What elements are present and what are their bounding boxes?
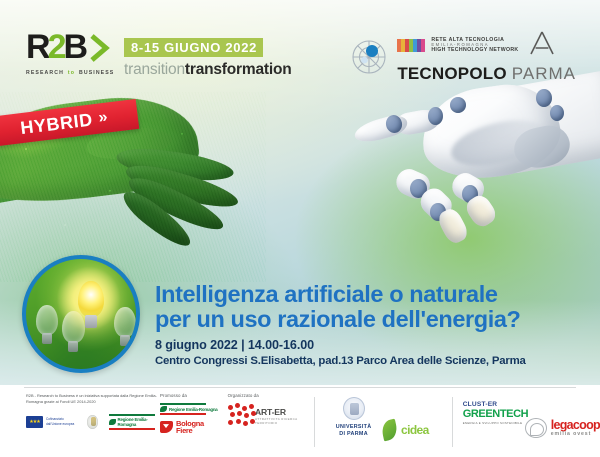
footer-promosso-block: Promosso da Regione Emilia-Romagna Bolog… xyxy=(160,393,228,453)
footer-funding-note-block: R2B - Research to Business è un iniziati… xyxy=(0,393,160,453)
event-venue: Centro Congressi S.Elisabetta, pad.13 Pa… xyxy=(155,355,585,367)
tecnopolo-logo: RETE ALTA TECNOLOGIA EMILIA-ROMAGNA HIGH… xyxy=(350,30,576,84)
regione-emilia-romagna-logo: Regione Emilia-Romagna xyxy=(109,414,160,430)
rer-label: Regione Emilia-Romagna xyxy=(118,417,160,427)
tagline-transformation: transformation xyxy=(185,61,292,78)
lightbulbs-on-grass-photo xyxy=(22,255,140,373)
tecnopolo-name-bold: TECNOPOLO xyxy=(397,64,506,84)
university-seal-icon xyxy=(343,397,365,420)
rer-green-bar xyxy=(160,403,206,405)
robot-index-joint xyxy=(428,107,443,125)
rer-label: Regione Emilia-Romagna xyxy=(169,407,218,412)
r2b-sub-to: to xyxy=(68,70,75,76)
cluster-main-label: GREENTECH xyxy=(463,408,525,420)
eu-logo-text: Cofinanziato dall'Unione europea xyxy=(46,417,76,426)
brain-network-icon xyxy=(350,38,388,76)
robot-knuckle-joint xyxy=(550,105,564,121)
robot-hand-image xyxy=(300,75,600,290)
cluster-sub-label: ENERGIA E SVILUPPO SOSTENIBILE xyxy=(463,421,525,425)
event-title-block: Intelligenza artificiale o naturale per … xyxy=(155,282,585,367)
cidea-name: cidea xyxy=(401,423,429,437)
hightech-network-bars-icon xyxy=(397,39,425,52)
legacoop-logo: legacoop emilia ovest xyxy=(525,393,600,453)
tagline-transition: transition xyxy=(124,61,185,78)
r2b-letter-b: B xyxy=(63,32,87,62)
dim-bulb-base xyxy=(42,333,52,344)
footer-institutional-logos: ★★★ Cofinanziato dall'Unione europea Reg… xyxy=(26,414,160,430)
r2b-wordmark: R 2 B xyxy=(26,32,134,66)
legacoop-subtitle: emilia ovest xyxy=(551,431,600,437)
robot-index-tip xyxy=(352,112,409,146)
network-labels: RETE ALTA TECNOLOGIA EMILIA-ROMAGNA HIGH… xyxy=(431,38,518,53)
tecnopolo-name: TECNOPOLO PARMA xyxy=(397,64,576,84)
unipr-line-1: UNIVERSITÀ xyxy=(336,424,372,431)
dim-bulb xyxy=(62,311,85,343)
r2b-logo: R 2 B RESEARCH to BUSINESS xyxy=(26,32,134,80)
rer-green-bar xyxy=(109,414,155,416)
unipr-line-2: DI PARMA xyxy=(336,431,372,438)
dim-bulb-base xyxy=(120,335,130,346)
leaf-icon xyxy=(380,419,399,442)
tecnopolo-text-lockup: RETE ALTA TECNOLOGIA EMILIA-ROMAGNA HIGH… xyxy=(397,30,576,84)
event-date-block: 8-15 GIUGNO 2022 transitiontransformatio… xyxy=(124,38,291,79)
arter-logo: ART-ER ATTRATTIVITA RICERCA TERRITORIO xyxy=(228,403,305,429)
arter-subtitle: ATTRATTIVITA RICERCA TERRITORIO xyxy=(255,417,304,425)
rer-red-bar xyxy=(109,428,155,430)
cidea-logo: cidea xyxy=(382,393,442,453)
robot-knuckle-joint xyxy=(450,97,466,113)
universita-di-parma-logo: UNIVERSITÀ DI PARMA xyxy=(325,393,382,453)
arter-name: ART-ER xyxy=(255,407,304,417)
event-datetime: 8 giugno 2022 | 14.00-16.00 xyxy=(155,338,585,352)
organizzato-heading: Organizzato da xyxy=(228,393,305,398)
chevron-right-icon xyxy=(90,34,110,67)
event-title-line-2: per un uso razionale dell'energia? xyxy=(155,307,585,332)
network-line-3: HIGH TECHNOLOGY NETWORK xyxy=(431,48,518,53)
event-title-line-1: Intelligenza artificiale o naturale xyxy=(155,282,585,307)
tecnopolo-name-light: PARMA xyxy=(512,64,576,84)
event-date-band: 8-15 GIUGNO 2022 xyxy=(124,38,263,57)
footer-organizzato-block: Organizzato da ART-ER ATTRATTIVITA RICER… xyxy=(228,393,305,453)
footer-separator xyxy=(314,397,315,447)
r2b-letter-r: R xyxy=(26,32,50,62)
rer-leaf-icon xyxy=(160,406,167,412)
footer-separator xyxy=(452,397,453,447)
robot-knuckle-joint xyxy=(536,89,552,107)
legacoop-spiral-icon xyxy=(525,418,547,438)
arter-dots-icon xyxy=(228,403,250,429)
r2b-tagline: RESEARCH to BUSINESS xyxy=(26,70,134,76)
footer-divider xyxy=(24,387,576,388)
dim-bulb xyxy=(114,307,136,337)
dim-bulb-base xyxy=(68,341,78,352)
event-poster: R 2 B RESEARCH to BUSINESS 8-15 GIUGNO 2… xyxy=(0,0,600,457)
r2b-sub-research: RESEARCH xyxy=(26,70,64,76)
bolognafiere-mark-icon xyxy=(160,421,173,433)
double-chevron-icon: » xyxy=(97,109,106,128)
glowing-bulb xyxy=(78,281,104,317)
footer: R2B - Research to Business è un iniziati… xyxy=(0,385,600,457)
clust-er-greentech-logo: CLUST-ER GREENTECH ENERGIA E SVILUPPO SO… xyxy=(463,393,525,453)
bolognafiere-logo: Bologna Fiere xyxy=(160,420,228,435)
tecnopolo-a-icon xyxy=(529,30,555,61)
tecnopolo-network-row: RETE ALTA TECNOLOGIA EMILIA-ROMAGNA HIGH… xyxy=(397,30,576,61)
italian-republic-emblem-icon xyxy=(87,415,98,429)
glowing-bulb-base xyxy=(85,315,97,328)
dim-bulb xyxy=(36,305,58,335)
footer-funding-note: R2B - Research to Business è un iniziati… xyxy=(26,393,160,405)
eu-flag-icon: ★★★ xyxy=(26,416,43,428)
r2b-sub-business: BUSINESS xyxy=(79,70,114,76)
promosso-heading: Promosso da xyxy=(160,393,228,398)
legacoop-name: legacoop xyxy=(551,419,600,431)
regione-emilia-romagna-logo: Regione Emilia-Romagna xyxy=(160,403,228,415)
rer-red-bar xyxy=(160,413,206,415)
hybrid-badge-label: HYBRID xyxy=(19,109,94,139)
cluster-top-label: CLUST-ER xyxy=(463,401,525,408)
bolognafiere-line-2: Fiere xyxy=(176,427,204,435)
rer-leaf-icon xyxy=(109,419,115,425)
event-tagline: transitiontransformation xyxy=(124,61,291,79)
